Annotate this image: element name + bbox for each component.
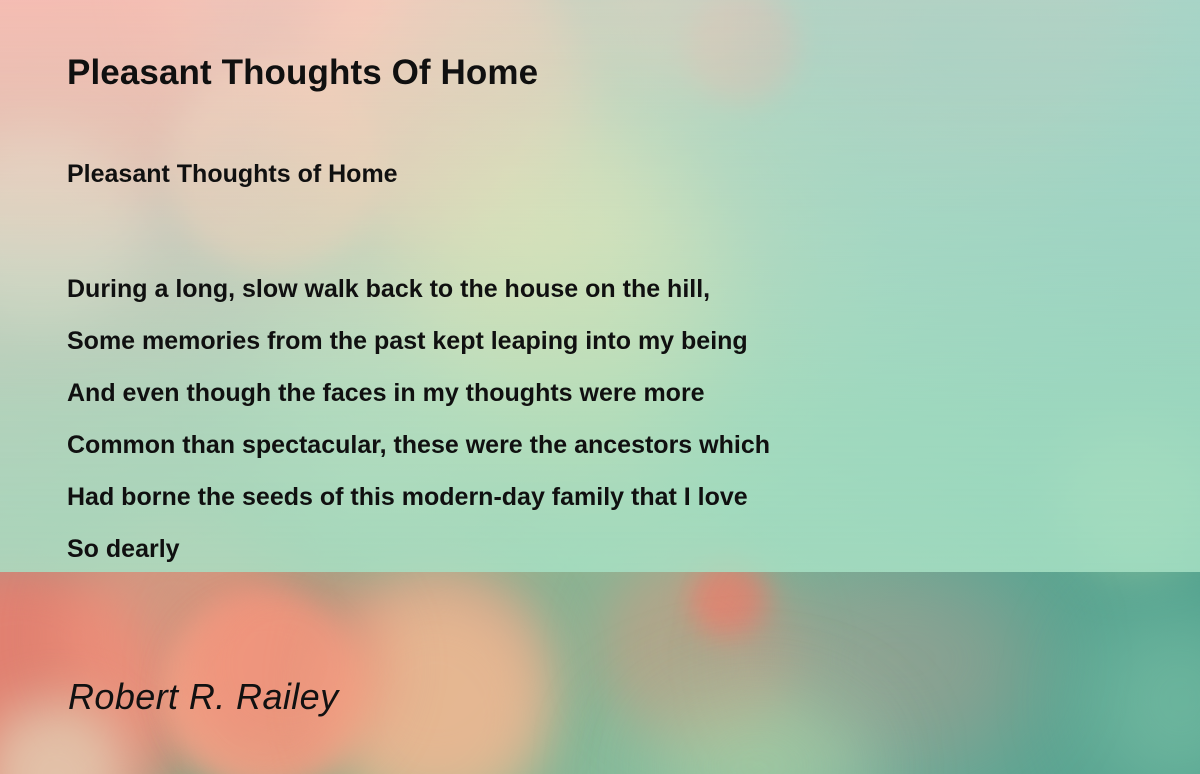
poem-image-card: Pleasant Thoughts Of Home Pleasant Thoug… — [0, 0, 1200, 774]
page-title: Pleasant Thoughts Of Home — [67, 53, 538, 93]
poem-author: Robert R. Railey — [68, 676, 339, 718]
poem-body: During a long, slow walk back to the hou… — [67, 263, 770, 575]
poem-line: Had borne the seeds of this modern-day f… — [67, 471, 770, 523]
poem-content: Pleasant Thoughts Of Home Pleasant Thoug… — [0, 0, 1200, 774]
poem-line: Some memories from the past kept leaping… — [67, 315, 770, 367]
poem-line: So dearly — [67, 523, 770, 575]
poem-subtitle: Pleasant Thoughts of Home — [67, 160, 398, 189]
poem-line: Common than spectacular, these were the … — [67, 419, 770, 471]
poem-line: During a long, slow walk back to the hou… — [67, 263, 770, 315]
poem-line: And even though the faces in my thoughts… — [67, 367, 770, 419]
